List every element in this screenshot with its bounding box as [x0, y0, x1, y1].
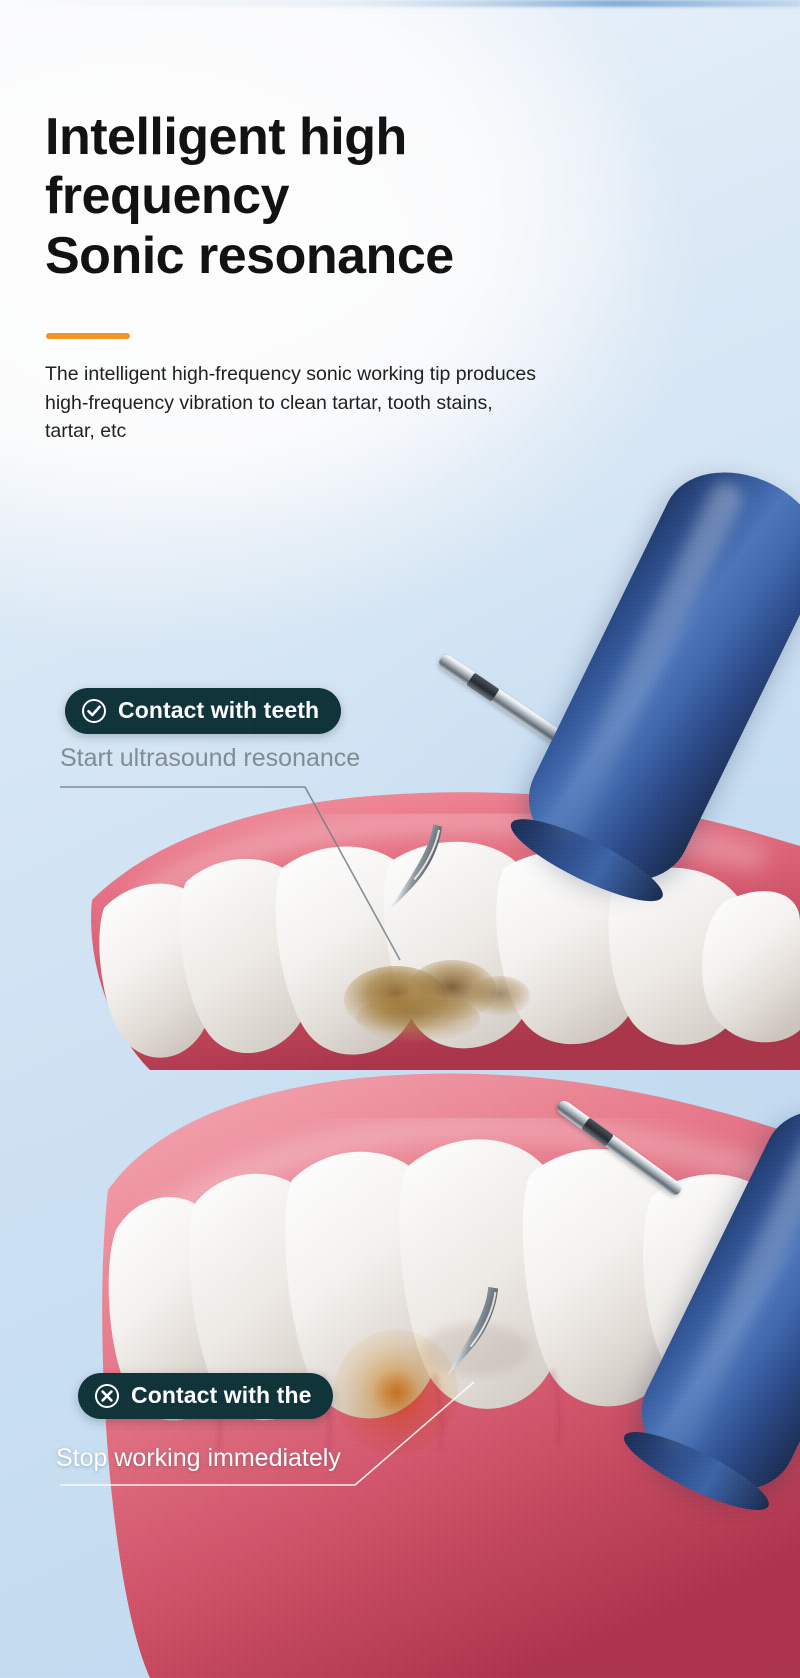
description-line-2: high-frequency vibration to clean tartar…: [45, 389, 725, 418]
headline-line-2: frequency: [45, 167, 685, 226]
orange-resonance-core: [373, 1369, 419, 1415]
x-circle-icon: [94, 1383, 120, 1409]
description-text: The intelligent high-frequency sonic wor…: [45, 360, 725, 446]
product-feature-page: Intelligent high frequency Sonic resonan…: [0, 0, 800, 1678]
dental-illustration: [0, 430, 800, 1678]
description-line-3: tartar, etc: [45, 417, 725, 446]
description-line-1: The intelligent high-frequency sonic wor…: [45, 360, 725, 389]
headline-line-3: Sonic resonance: [45, 227, 685, 286]
callout-badge-positive-label: Contact with teeth: [118, 697, 319, 724]
top-edge-accent: [0, 0, 800, 7]
check-circle-icon: [81, 698, 107, 724]
callout-badge-positive[interactable]: Contact with teeth: [65, 688, 341, 734]
headline-line-1: Intelligent high: [45, 108, 685, 167]
accent-divider: [46, 333, 130, 339]
callout-badge-negative-label: Contact with the: [131, 1382, 311, 1409]
callout-sublabel-negative: Stop working immediately: [56, 1444, 341, 1473]
callout-sublabel-positive: Start ultrasound resonance: [60, 744, 360, 773]
page-title: Intelligent high frequency Sonic resonan…: [45, 108, 685, 286]
callout-badge-negative[interactable]: Contact with the: [78, 1373, 333, 1419]
